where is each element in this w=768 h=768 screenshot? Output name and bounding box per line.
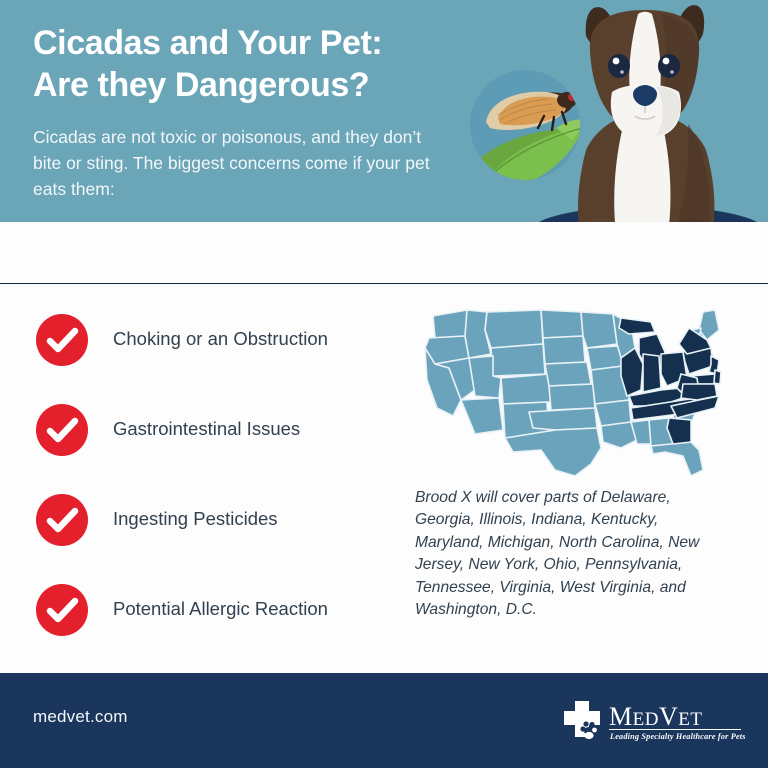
check-circle-icon [36, 584, 88, 636]
list-item-label: Choking or an Obstruction [113, 326, 403, 352]
list-item: Ingesting Pesticides [33, 488, 403, 578]
list-item: Potential Allergic Reaction [33, 578, 403, 668]
page-title-line-1: Cicadas and Your Pet: [33, 22, 503, 64]
main-content: Choking or an Obstruction Gastrointestin… [0, 284, 768, 673]
page-title-line-2: Are they Dangerous? [33, 64, 503, 106]
map-caption: Brood X will cover parts of Delaware, Ge… [415, 487, 715, 621]
page-title: Cicadas and Your Pet: Are they Dangerous… [33, 22, 503, 106]
logo-tagline: Leading Specialty Healthcare for Pets [609, 732, 745, 741]
list-item-label: Ingesting Pesticides [113, 506, 403, 532]
infographic-page: Cicadas and Your Pet: Are they Dangerous… [0, 0, 768, 768]
medvet-cross-paw-logo[interactable]: MEDVET Leading Specialty Healthcare for … [563, 697, 745, 747]
check-circle-icon [36, 404, 88, 456]
list-item: Choking or an Obstruction [33, 308, 403, 398]
check-circle-icon [36, 494, 88, 546]
footer: medvet.com MEDVET [0, 673, 768, 768]
logo-wordmark: MEDVET [609, 702, 702, 731]
website-link[interactable]: medvet.com [33, 707, 128, 727]
hero-section: Cicadas and Your Pet: Are they Dangerous… [0, 0, 768, 222]
hero-illustration [460, 0, 768, 222]
list-item-label: Potential Allergic Reaction [113, 596, 403, 622]
united-states-map [415, 304, 727, 482]
check-circle-icon [36, 314, 88, 366]
hero-subtitle: Cicadas are not toxic or poisonous, and … [33, 124, 448, 202]
list-item: Gastrointestinal Issues [33, 398, 403, 488]
list-item-label: Gastrointestinal Issues [113, 416, 403, 442]
risk-checklist: Choking or an Obstruction Gastrointestin… [33, 308, 403, 668]
